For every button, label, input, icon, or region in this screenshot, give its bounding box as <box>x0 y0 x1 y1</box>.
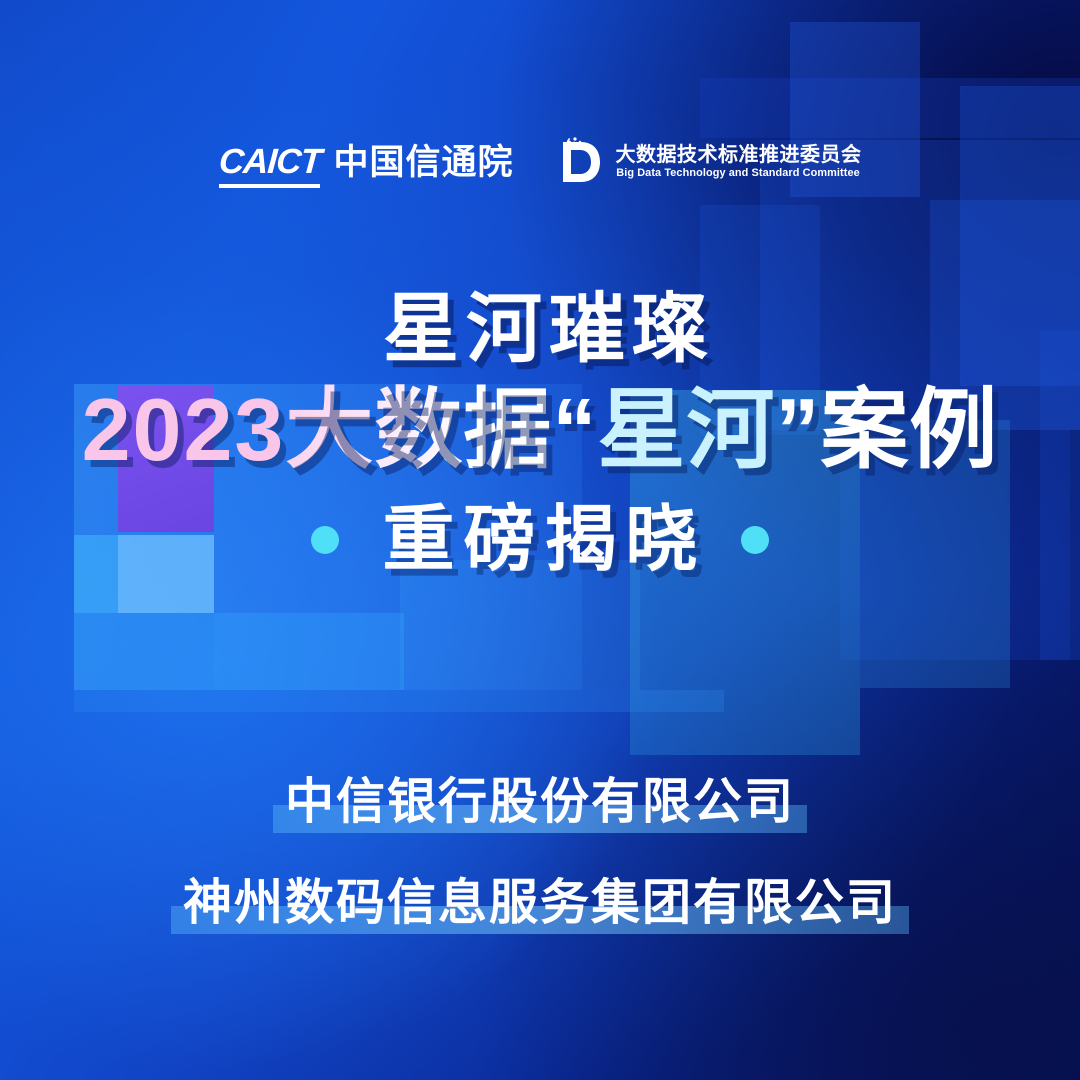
headline-line-3: 重磅揭晓 <box>0 504 1080 576</box>
headline-case: 案例 <box>820 380 998 479</box>
bdtsc-chinese-name: 大数据技术标准推进委员会 <box>615 145 861 165</box>
headline-line-1: 星河璀璨 <box>0 292 1080 368</box>
poster-canvas: CAICT 中国信通院 大数据技术标准推进委员会 Big Data Techno… <box>0 0 1080 1080</box>
dot-left-icon <box>311 526 339 554</box>
caict-wordmark: CAICT <box>217 144 321 179</box>
stylized-d-icon <box>557 136 603 188</box>
winner-item: 中信银行股份有限公司 <box>273 772 807 837</box>
winner-name: 中信银行股份有限公司 <box>285 775 795 829</box>
winner-name: 神州数码信息服务集团有限公司 <box>183 876 897 930</box>
headline-bigdata: 大数据 <box>285 380 552 479</box>
bdtsc-logo: 大数据技术标准推进委员会 Big Data Technology and Sta… <box>557 136 861 188</box>
decor-block-lower-left-1 <box>74 613 214 690</box>
decor-block-lower-strip <box>74 690 724 712</box>
bdtsc-english-name: Big Data Technology and Standard Committ… <box>617 168 861 179</box>
caict-underline-rule <box>219 184 321 188</box>
headline-reveal-text: 重磅揭晓 <box>373 504 706 576</box>
caict-chinese-name: 中国信通院 <box>333 134 513 185</box>
winner-list: 中信银行股份有限公司 神州数码信息服务集团有限公司 <box>0 772 1080 938</box>
winner-item: 神州数码信息服务集团有限公司 <box>171 873 909 938</box>
headline-galaxy: 星河 <box>597 380 775 479</box>
headline-group: 星河璀璨 2023大数据“星河”案例 重磅揭晓 <box>0 292 1080 576</box>
headline-quote-open: “ <box>552 380 597 479</box>
headline-year: 2023 <box>82 380 286 479</box>
headline-line-2: 2023大数据“星河”案例 <box>0 386 1080 474</box>
decor-block-lower-left-2 <box>214 613 404 690</box>
caict-logo: CAICT 中国信通院 <box>219 137 514 188</box>
header-logo-bar: CAICT 中国信通院 大数据技术标准推进委员会 Big Data Techno… <box>0 136 1080 188</box>
caict-wordmark-group: CAICT <box>219 144 321 188</box>
dot-right-icon <box>741 526 769 554</box>
headline-quote-close: ” <box>775 380 820 479</box>
winner-rows: 中信银行股份有限公司 神州数码信息服务集团有限公司 <box>0 772 1080 938</box>
bdtsc-text-group: 大数据技术标准推进委员会 Big Data Technology and Sta… <box>615 145 861 179</box>
